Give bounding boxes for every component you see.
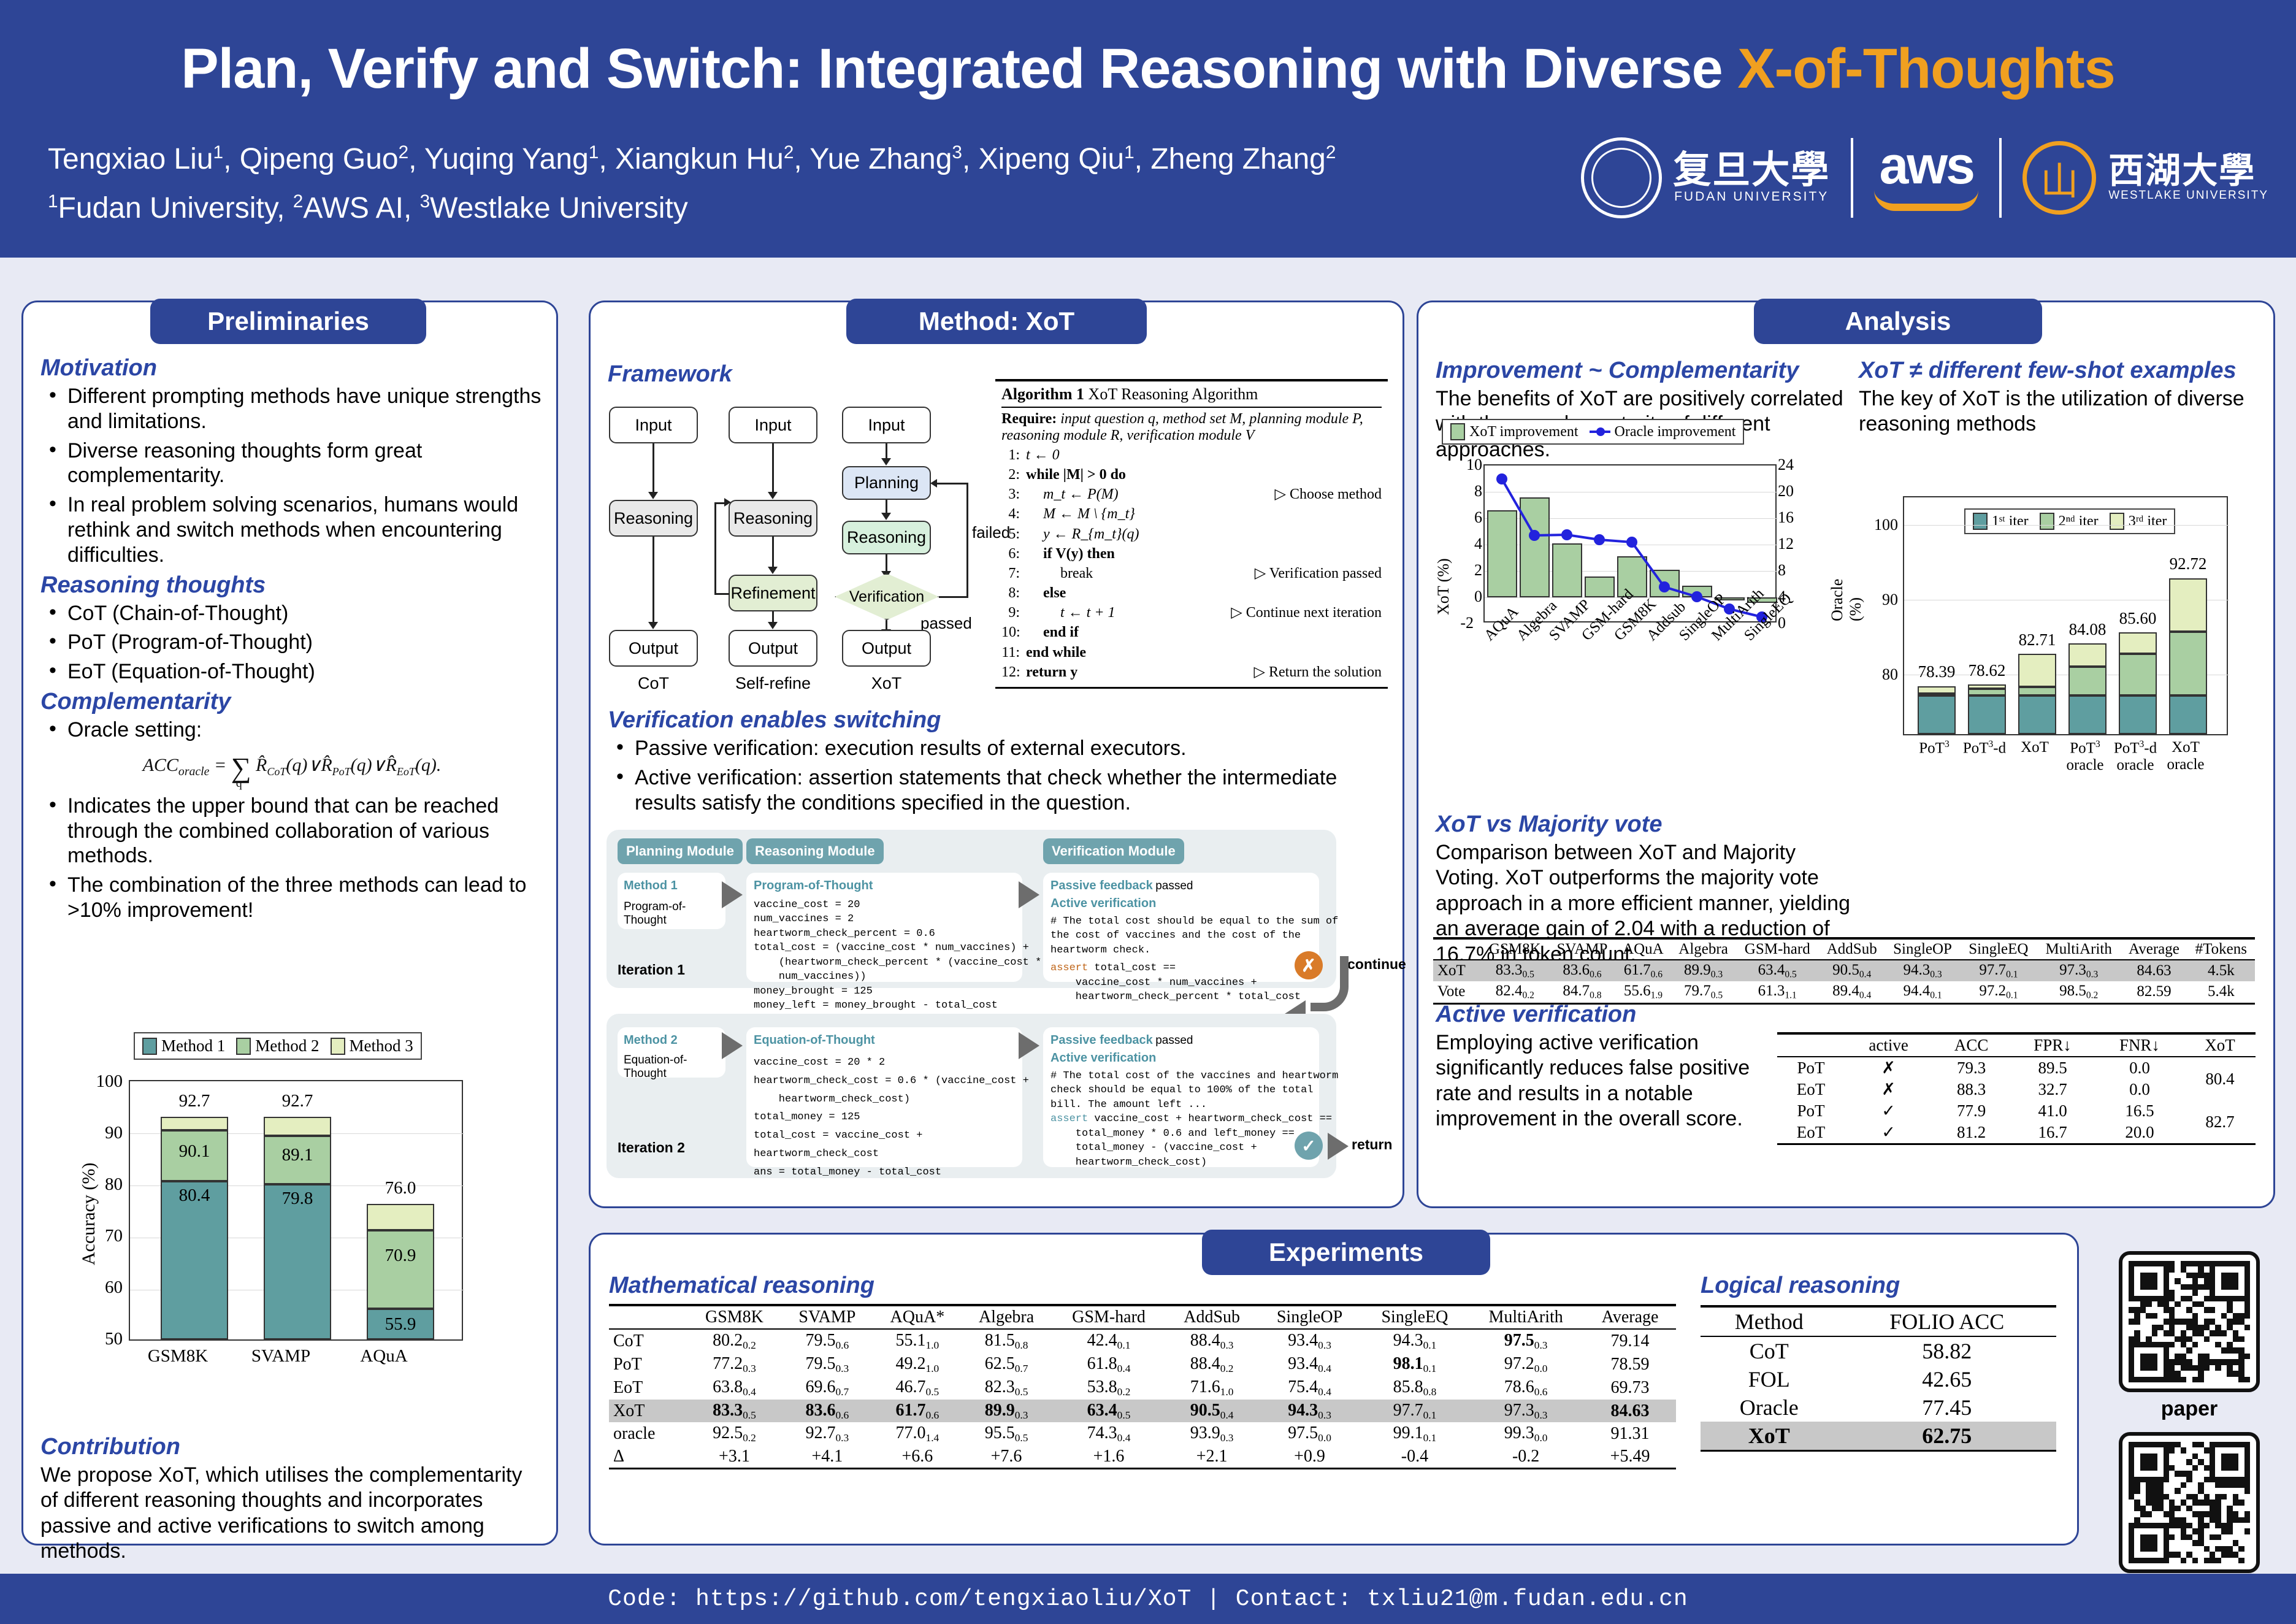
poster-footer: Code: https://github.com/tengxiaoliu/XoT… (0, 1574, 2296, 1624)
legend-swatch-method3 (331, 1038, 345, 1055)
col-header: SingleEQ (1961, 938, 2037, 960)
active-verification-table-wrap: active ACC FPR↓ FNR↓ XoT PoT ✗ 79.3 89.5… (1777, 1032, 2256, 1145)
reasoning-head: Equation-of-Thought (754, 1033, 1015, 1048)
col-header: FPR↓ (2010, 1033, 2095, 1057)
logic-heading: Logical reasoning (1701, 1273, 2056, 1299)
cell: 89.90.3 (962, 1400, 1051, 1423)
plan-to-reason-arrow (722, 881, 743, 908)
cell: 95.50.5 (962, 1422, 1051, 1446)
cell: 97.30.3 (2037, 960, 2121, 981)
col-header: MultiArith (1468, 1305, 1584, 1329)
passive-value: passed (1155, 879, 1193, 892)
bar-seg-iter1 (2119, 695, 2157, 734)
xot-pipeline-figure: Planning Module Reasoning Module Verific… (607, 830, 1388, 1185)
cell: 82.59 (2121, 981, 2187, 1003)
fewshot-text: The key of XoT is the utilization of div… (1859, 386, 2260, 437)
cell-fpr: 89.5 (2010, 1057, 2095, 1079)
cell-acc: 81.2 (1932, 1122, 2010, 1144)
cell: 94.30.3 (1885, 960, 1961, 981)
iteration-2-reasoning-card: Equation-of-Thought vaccine_cost = 20 * … (746, 1027, 1022, 1167)
cell: 78.60.6 (1468, 1376, 1584, 1400)
bar-value-label: 79.8 (264, 1189, 331, 1209)
cell-method: PoT (1777, 1100, 1845, 1122)
iteration-2-planning-card: Method 2 Equation-of-Thought (618, 1027, 725, 1078)
cell: +1.6 (1051, 1446, 1166, 1469)
cell: 94.30.1 (1362, 1329, 1468, 1353)
cell: 82.40.2 (1481, 981, 1549, 1003)
table-row: PoT ✓ 77.9 41.0 16.5 82.7 (1777, 1100, 2256, 1122)
algorithm-require: Require: input question q, method set M,… (1001, 411, 1382, 444)
table-row: FOL42.65 (1701, 1365, 2056, 1393)
paper-qr-code[interactable] (2119, 1251, 2260, 1392)
cell: 69.60.7 (781, 1376, 873, 1400)
table-row: XoT 83.30.5 83.60.6 61.70.6 89.90.3 63.4… (1433, 960, 2255, 981)
y-tick: 70 (86, 1226, 123, 1246)
col-header: SingleEQ (1362, 1305, 1468, 1329)
cell-method: CoT (1701, 1336, 1837, 1365)
math-reasoning-block: Mathematical reasoning GSM8K SVAMP AQuA*… (609, 1273, 1676, 1469)
westlake-university-logo: 西湖大學 WESTLAKE UNIVERSITY (2022, 141, 2268, 215)
col-header: AQuA* (873, 1305, 962, 1329)
active-verification-block: Active verification Employing active ver… (1436, 1002, 1755, 1132)
table-header-row: Method FOLIO ACC (1701, 1306, 2056, 1336)
cell-acc: 77.45 (1837, 1393, 2056, 1422)
bar-segment-method3 (161, 1117, 228, 1130)
active-heading: Active verification (1436, 1002, 1755, 1028)
cell: 61.31.1 (1736, 981, 1819, 1003)
table-row: XoT62.75 (1701, 1422, 2056, 1451)
legend-item: 1ˢᵗ iter (1973, 513, 2029, 530)
list-item: Active verification: assertion statement… (608, 765, 1387, 816)
table-row: EoT ✓ 81.2 16.7 20.0 (1777, 1122, 2256, 1144)
motivation-heading: Motivation (40, 355, 543, 381)
cell: 97.50.3 (1468, 1329, 1584, 1353)
cell: 92.50.2 (687, 1422, 781, 1446)
cell: 93.40.3 (1257, 1329, 1361, 1353)
y2-tick: 20 (1778, 482, 1815, 500)
method-panel: Framework Input Reasoning Output CoT Inp… (589, 301, 1404, 1208)
chart-legend: Method 1 Method 2 Method 3 (134, 1032, 422, 1060)
passive-label: Passive feedback (1050, 879, 1153, 892)
reasoning-module-tag: Reasoning Module (746, 838, 884, 864)
cell: 84.63 (1584, 1400, 1676, 1423)
bar-value-label: 89.1 (264, 1145, 331, 1165)
legend-item: 3ʳᵈ iter (2110, 513, 2167, 530)
bar-seg-iter1 (2169, 695, 2207, 734)
xot-oracle-improvement-chart: XoT improvement Oracle improvement XoT (… (1431, 419, 1835, 695)
cell: 84.63 (2121, 960, 2187, 981)
bar-seg-iter3 (1918, 686, 1956, 694)
cell: +2.1 (1166, 1446, 1257, 1469)
verification-bullets: Passive verification: execution results … (608, 736, 1387, 819)
cell: 85.80.8 (1362, 1376, 1468, 1400)
plot-area: 1ˢᵗ iter 2ⁿᵈ iter 3ʳᵈ iter 78.39 78.62 (1903, 496, 2228, 735)
logo-divider (1999, 138, 2002, 218)
x-tick: XoToracle (2156, 739, 2216, 773)
cell: 98.10.1 (1362, 1353, 1468, 1376)
cell: +6.6 (873, 1446, 962, 1469)
col-header (609, 1305, 687, 1329)
col-header: GSM-hard (1736, 938, 1819, 960)
col-header: FOLIO ACC (1837, 1306, 2056, 1336)
verification-passed-badge: ✓ (1295, 1132, 1323, 1160)
return-arrow (1328, 1133, 1349, 1160)
majority-heading: XoT vs Majority vote (1436, 811, 1853, 838)
x-tick: SVAMP (232, 1346, 330, 1366)
cell: +5.49 (1584, 1446, 1676, 1469)
table-row: PoT77.20.379.50.349.21.062.50.761.80.488… (609, 1353, 1676, 1376)
bar-value-label: 70.9 (367, 1246, 434, 1266)
selfrefine-reasoning-node: Reasoning (729, 500, 817, 537)
list-item: In real problem solving scenarios, human… (40, 492, 543, 567)
legend-swatch-method2 (236, 1038, 251, 1055)
col-header: active (1845, 1033, 1932, 1057)
active-label: Active verification (1050, 897, 1312, 911)
cot-reasoning-node: Reasoning (609, 500, 698, 537)
cell: 55.61.9 (1615, 981, 1670, 1003)
majority-vote-table-wrap: GSM8K SVAMP AQuA Algebra GSM-hard AddSub… (1433, 937, 2255, 1005)
row-label: oracle (609, 1422, 687, 1446)
bar-seg-iter1 (1968, 695, 2006, 734)
y-tick: 90 (86, 1123, 123, 1143)
cell: 97.20.0 (1468, 1353, 1584, 1376)
cell: 61.70.6 (1615, 960, 1670, 981)
flow-arrow (772, 443, 774, 492)
list-item: The combination of the three methods can… (40, 873, 543, 923)
reasoning-head: Program-of-Thought (754, 879, 1015, 893)
y2-tick: 24 (1778, 456, 1815, 474)
algorithm-line: 6:if V(y) then (1001, 544, 1382, 564)
cell: 83.30.5 (1481, 960, 1549, 981)
cell-fnr: 16.5 (2095, 1100, 2184, 1122)
col-header: FNR↓ (2095, 1033, 2184, 1057)
contribution-text: We propose XoT, which utilises the compl… (40, 1463, 543, 1565)
active-label: Active verification (1050, 1051, 1312, 1065)
legend-item: Oracle improvement (1590, 424, 1736, 440)
cell: 49.21.0 (873, 1353, 962, 1376)
cell: 63.40.5 (1736, 960, 1819, 981)
col-header (1433, 938, 1481, 960)
cell: 99.30.0 (1468, 1422, 1584, 1446)
method-name: Equation-of-Thought (624, 1054, 719, 1081)
cell: 61.70.6 (873, 1400, 962, 1423)
math-heading: Mathematical reasoning (609, 1273, 1676, 1299)
complementarity-heading: Complementarity (40, 689, 543, 715)
legend-item: Method 2 (236, 1036, 319, 1055)
bar-seg-iter2 (2169, 632, 2207, 695)
reason-to-verify-arrow (1019, 1032, 1039, 1059)
y-tick: 80 (86, 1174, 123, 1195)
col-header (1777, 1033, 1845, 1057)
fewshot-heading: XoT ≠ different few-shot examples (1859, 358, 2260, 384)
y-tick: 50 (86, 1329, 123, 1349)
complementarity-stacked-bar-chart: Method 1 Method 2 Method 3 Accuracy (%) … (60, 1032, 526, 1400)
y-tick: 4 (1445, 535, 1482, 553)
iteration-1-verification-card: Passive feedback passed Active verificat… (1043, 873, 1319, 982)
xot-caption: XoT (842, 674, 931, 693)
failed-loop-line (966, 483, 968, 598)
cell-fnr: 0.0 (2095, 1079, 2184, 1100)
legend-item: Method 3 (331, 1036, 413, 1055)
bar-seg-iter3 (2169, 578, 2207, 632)
logic-reasoning-table: Method FOLIO ACC CoT58.82FOL42.65Oracle7… (1701, 1305, 2056, 1452)
cot-input-node: Input (609, 407, 698, 443)
cell-fnr: 0.0 (2095, 1057, 2184, 1079)
cell-xot: 82.7 (2184, 1100, 2256, 1144)
active-verification-table: active ACC FPR↓ FNR↓ XoT PoT ✗ 79.3 89.5… (1777, 1032, 2256, 1145)
iteration-2-label: Iteration 2 (618, 1139, 685, 1156)
cell: 83.60.6 (781, 1400, 873, 1423)
logo-divider (1851, 138, 1853, 218)
poster-header: Plan, Verify and Switch: Integrated Reas… (0, 0, 2296, 258)
cell: 91.31 (1584, 1422, 1676, 1446)
cell: 82.30.5 (962, 1376, 1051, 1400)
flow-arrow (652, 537, 654, 622)
legend-item: Method 1 (142, 1036, 225, 1055)
cell: 75.40.4 (1257, 1376, 1361, 1400)
table-row: Vote 82.40.2 84.70.8 55.61.9 79.70.5 61.… (1433, 981, 2255, 1003)
cell: 89.90.3 (1671, 960, 1736, 981)
logo-row: 复旦大學 FUDAN UNIVERSITY aws 西湖大學 WESTLAKE … (1581, 132, 2268, 224)
cell: 92.70.3 (781, 1422, 873, 1446)
active-comment: # The total cost of the vaccines and hea… (1050, 1069, 1312, 1112)
xot-input-node: Input (842, 407, 931, 443)
cell: 89.40.4 (1819, 981, 1885, 1003)
motivation-bullets: Different prompting methods have unique … (40, 384, 543, 568)
legend-swatch-iter3 (2110, 513, 2124, 530)
col-header: ACC (1932, 1033, 2010, 1057)
row-label: XoT (1433, 960, 1481, 981)
experiments-panel-title: Experiments (1202, 1230, 1490, 1275)
cell-acc: 88.3 (1932, 1079, 2010, 1100)
legend-label: XoT improvement (1469, 424, 1578, 440)
iteration-1-reasoning-card: Program-of-Thought vaccine_cost = 20 num… (746, 873, 1022, 982)
col-header: Algebra (1671, 938, 1736, 960)
oracle-bullet: Oracle setting: (40, 718, 543, 743)
cell: 97.30.3 (1468, 1400, 1584, 1423)
cell: 97.70.1 (1961, 960, 2037, 981)
col-header: SVAMP (781, 1305, 873, 1329)
cell: 99.10.1 (1362, 1422, 1468, 1446)
reasoning-code: vaccine_cost = 20 * 2 heartworm_check_co… (754, 1054, 1015, 1181)
table-row: EoT63.80.469.60.746.70.582.30.553.80.271… (609, 1376, 1676, 1400)
method-panel-title: Method: XoT (846, 299, 1147, 344)
col-header: AQuA (1615, 938, 1670, 960)
cell: 94.30.3 (1257, 1400, 1361, 1423)
algorithm-line: 1:t ← 0 (1001, 445, 1382, 465)
failed-loop-line (937, 483, 968, 485)
cell: 83.30.5 (687, 1400, 781, 1423)
bar-value-label: 55.9 (367, 1314, 434, 1335)
legend-swatch-iter1 (1973, 513, 1988, 530)
legend-item: XoT improvement (1450, 423, 1578, 440)
y2-tick: 16 (1778, 508, 1815, 527)
bar-top-label: 92.7 (264, 1091, 331, 1111)
list-item: Different prompting methods have unique … (40, 384, 543, 434)
x-tick: AQuA (335, 1346, 433, 1366)
cell: +3.1 (687, 1446, 781, 1469)
legend-line-oracle-improvement (1590, 431, 1610, 433)
method-label: Method 2 (624, 1033, 719, 1048)
flow-arrow (886, 443, 887, 459)
cell-method: EoT (1777, 1079, 1845, 1100)
cell-fpr: 32.7 (2010, 1079, 2095, 1100)
bar-seg-iter1 (2018, 695, 2056, 734)
algorithm-line: 9:t ← t + 1▷ Continue next iteration (1001, 603, 1382, 622)
table-row: CoT58.82 (1701, 1336, 2056, 1365)
aws-wordmark: aws (1874, 145, 1978, 187)
legend-label: Oracle improvement (1615, 424, 1736, 440)
cell: 5.4k (2187, 981, 2255, 1003)
cell: 74.30.4 (1051, 1422, 1166, 1446)
algorithm-line: 11:end while (1001, 643, 1382, 662)
y-tick: 80 (1859, 665, 1898, 684)
cell: 80.20.2 (687, 1329, 781, 1353)
cell: 63.80.4 (687, 1376, 781, 1400)
cell-active: ✗ (1845, 1057, 1932, 1079)
cell-acc: 79.3 (1932, 1057, 2010, 1079)
math-reasoning-table: GSM8K SVAMP AQuA* Algebra GSM-hard AddSu… (609, 1304, 1676, 1469)
col-header: #Tokens (2187, 938, 2255, 960)
verification-module-tag: Verification Module (1043, 838, 1184, 864)
cell: 61.80.4 (1051, 1353, 1166, 1376)
feedback-line (714, 593, 730, 595)
continue-curve-arrow (1311, 956, 1349, 1011)
table-row: CoT80.20.279.50.655.11.081.50.842.40.188… (609, 1329, 1676, 1353)
y-tick: -2 (1437, 614, 1474, 632)
cell: 94.40.1 (1885, 981, 1961, 1003)
legend-swatch-method1 (142, 1038, 157, 1055)
list-item: Diverse reasoning thoughts form great co… (40, 439, 543, 489)
iteration-1-planning-card: Method 1 Program-of-Thought (618, 873, 725, 929)
col-header: SingleOP (1257, 1305, 1361, 1329)
bar-top-label: 92.72 (2158, 554, 2218, 573)
cell: 83.60.6 (1549, 960, 1616, 981)
reasoning-thoughts-heading: Reasoning thoughts (40, 572, 543, 599)
framework-diagram: Input Reasoning Output CoT Input Reasoni… (603, 394, 983, 683)
analysis-right-column: XoT ≠ different few-shot examples The ke… (1859, 358, 2260, 437)
cell: 97.20.1 (1961, 981, 2037, 1003)
chart-legend: 1ˢᵗ iter 2ⁿᵈ iter 3ʳᵈ iter (1964, 508, 2175, 534)
algorithm-line: 2:while |M| > 0 do (1001, 465, 1382, 485)
code-qr-code[interactable] (2119, 1432, 2260, 1573)
list-item: Indicates the upper bound that can be re… (40, 794, 543, 868)
reasoning-thoughts-bullets: CoT (Chain-of-Thought) PoT (Program-of-T… (40, 601, 543, 684)
method-label: Method 1 (624, 879, 719, 893)
active-text: Employing active verification significan… (1436, 1030, 1755, 1132)
bar-top-label: 92.7 (161, 1091, 228, 1111)
table-row: PoT ✗ 79.3 89.5 0.0 80.4 (1777, 1057, 2256, 1079)
fudan-seal-icon (1581, 137, 1662, 218)
col-header: Algebra (962, 1305, 1051, 1329)
return-label: return (1352, 1136, 1392, 1153)
selfrefine-refinement-node: Refinement (729, 575, 817, 611)
algorithm-number: Algorithm 1 (1001, 385, 1084, 403)
cell: 77.01.4 (873, 1422, 962, 1446)
cell: 88.40.2 (1166, 1353, 1257, 1376)
cell: 62.50.7 (962, 1353, 1051, 1376)
cell: 93.40.4 (1257, 1353, 1361, 1376)
col-header: AddSub (1819, 938, 1885, 960)
row-label: PoT (609, 1353, 687, 1376)
cell-method: XoT (1701, 1422, 1837, 1451)
bar-segment-method3 (367, 1204, 434, 1230)
assert-keyword: assert (1050, 962, 1088, 974)
bar-value-label: 90.1 (161, 1141, 228, 1162)
legend-label: Method 3 (350, 1036, 413, 1055)
xot-reasoning-node: Reasoning (842, 521, 931, 554)
y-tick: 2 (1445, 561, 1482, 580)
bar-seg-iter1 (1918, 695, 1956, 734)
cell: 84.70.8 (1549, 981, 1616, 1003)
planning-module-tag: Planning Module (618, 838, 743, 864)
passive-label: Passive feedback (1050, 1033, 1153, 1047)
legend-item: 2ⁿᵈ iter (2040, 513, 2099, 530)
y-tick: 0 (1445, 588, 1482, 606)
analysis-panel: Improvement ~ Complementarity The benefi… (1417, 301, 2275, 1208)
plan-to-reason-arrow (722, 1032, 743, 1059)
cell-method: PoT (1777, 1057, 1845, 1079)
col-header: GSM-hard (1051, 1305, 1166, 1329)
list-item: CoT (Chain-of-Thought) (40, 601, 543, 626)
cell-acc: 58.82 (1837, 1336, 2056, 1365)
cell: -0.2 (1468, 1446, 1584, 1469)
col-header: SingleOP (1885, 938, 1961, 960)
bar-segment-method3 (264, 1117, 331, 1136)
majority-vote-table: GSM8K SVAMP AQuA Algebra GSM-hard AddSub… (1433, 937, 2255, 1005)
algorithm-line: 4:M ← M \ {m_t} (1001, 504, 1382, 524)
col-header: GSM8K (1481, 938, 1549, 960)
flow-arrow (772, 537, 774, 567)
cell: 71.61.0 (1166, 1376, 1257, 1400)
continue-label: continue (1347, 956, 1406, 973)
qr-column: paper code (2103, 1251, 2275, 1613)
list-item: EoT (Equation-of-Thought) (40, 659, 543, 684)
col-header: Method (1701, 1306, 1837, 1336)
cell-acc: 62.75 (1837, 1422, 2056, 1451)
table-row: Oracle77.45 (1701, 1393, 2056, 1422)
bar-seg-iter3 (2119, 632, 2157, 654)
col-header: SVAMP (1549, 938, 1616, 960)
bar-top-label: 78.62 (1957, 661, 2017, 680)
contribution-block: Contribution We propose XoT, which utili… (40, 1434, 543, 1565)
cell: 90.50.4 (1166, 1400, 1257, 1423)
feedback-arrowhead (724, 498, 731, 507)
preliminaries-panel-title: Preliminaries (150, 299, 426, 344)
bar-seg-iter3 (2068, 643, 2107, 667)
preliminaries-panel: Motivation Different prompting methods h… (21, 301, 558, 1545)
col-header: XoT (2184, 1033, 2256, 1057)
cell: 90.50.4 (1819, 960, 1885, 981)
bar-seg-iter3 (1968, 684, 2006, 689)
table-row: Δ+3.1+4.1+6.6+7.6+1.6+2.1+0.9-0.4-0.2+5.… (609, 1446, 1676, 1469)
y2-tick: 12 (1778, 535, 1815, 553)
cell: 98.50.2 (2037, 981, 2121, 1003)
analysis-panel-title: Analysis (1754, 299, 2042, 344)
table-header-row: active ACC FPR↓ FNR↓ XoT (1777, 1033, 2256, 1057)
algorithm-name: XoT Reasoning Algorithm (1084, 385, 1258, 403)
cell: 79.50.3 (781, 1353, 873, 1376)
cell: 63.40.5 (1051, 1400, 1166, 1423)
list-item: Passive verification: execution results … (608, 736, 1387, 761)
cell: 4.5k (2187, 960, 2255, 981)
legend-label: 3ʳᵈ iter (2129, 513, 2167, 530)
xot-planning-node: Planning (842, 466, 931, 500)
cell: 46.70.5 (873, 1376, 962, 1400)
contribution-heading: Contribution (40, 1434, 543, 1460)
col-header: AddSub (1166, 1305, 1257, 1329)
flow-arrow (886, 554, 887, 572)
